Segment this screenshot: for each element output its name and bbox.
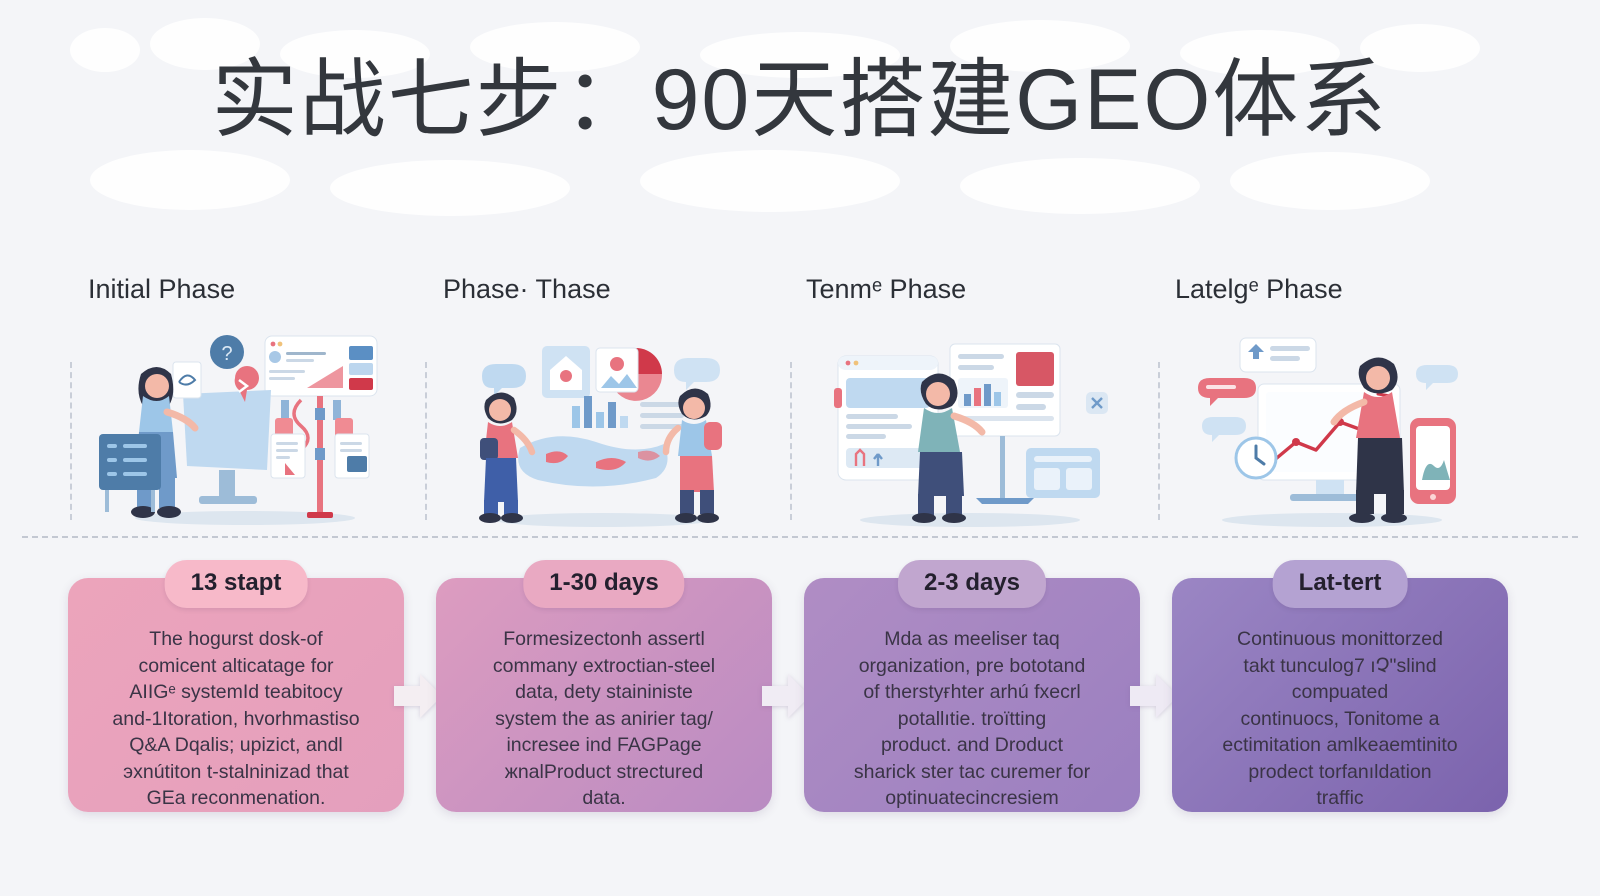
- phase-body-1: The hogurst dosk-of comicent alticatage …: [86, 626, 386, 812]
- decor-blob: [330, 160, 570, 216]
- phase-card-1[interactable]: 13 stapt The hogurst dosk-of comicent al…: [68, 578, 404, 812]
- phase-badge-1: 13 stapt: [165, 560, 308, 608]
- phase-body-2: Formesizectonh assertl commany extroctia…: [454, 626, 754, 812]
- phase-header-3: Tenmᵉ Phase: [806, 274, 966, 314]
- illustration-person-at-monitor-dashboard: ?: [95, 330, 385, 530]
- phase-card-4[interactable]: Lat-tert Continuous monittorzed takt tun…: [1172, 578, 1508, 812]
- svg-text:?: ?: [221, 343, 232, 365]
- decor-blob: [640, 150, 900, 212]
- page-title: 实战七步：90天搭建GEO体系: [0, 46, 1600, 154]
- infographic-page: 实战七步：90天搭建GEO体系 Initial Phase Phase· Tha…: [0, 0, 1600, 896]
- decor-blob: [1230, 152, 1430, 210]
- phase-header-4: Latelgᵉ Phase: [1175, 274, 1343, 314]
- phase-badge-4: Lat-tert: [1273, 560, 1408, 608]
- phase-body-3: Mda as meeliser taq organization, pre bo…: [822, 626, 1122, 812]
- phase-header-1: Initial Phase: [88, 274, 235, 314]
- illustration-man-with-growth-chart: [1192, 330, 1472, 530]
- phase-card-2[interactable]: 1-30 days Formesizectonh assertl commany…: [436, 578, 772, 812]
- phase-card-3[interactable]: 2-3 days Mda as meeliser taq organizatio…: [804, 578, 1140, 812]
- decor-blob: [90, 150, 290, 210]
- illustration-two-people-content-charts: [468, 330, 738, 530]
- phase-badge-2: 1-30 days: [523, 560, 684, 608]
- decor-blob: [960, 158, 1200, 214]
- phase-header-2: Phase· Thase: [443, 274, 611, 314]
- phase-body-4: Continuous monittorzed takt tunculog7 ıՉ…: [1190, 626, 1490, 812]
- phase-badge-3: 2-3 days: [898, 560, 1046, 608]
- illustration-person-presenting-board: [830, 330, 1110, 530]
- illustration-band: ?: [0, 330, 1600, 538]
